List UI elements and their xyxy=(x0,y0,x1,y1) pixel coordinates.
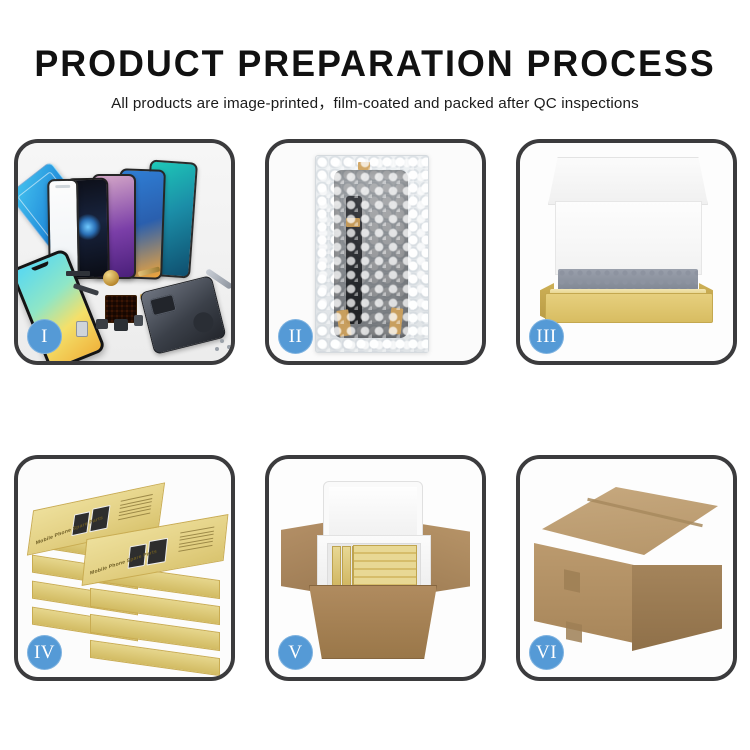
step-badge-2: II xyxy=(278,319,313,354)
bubble-wrap-bag xyxy=(315,155,429,353)
carton-front-face xyxy=(534,543,634,643)
process-step-1[interactable]: I xyxy=(14,139,235,365)
screw-icon xyxy=(215,347,219,351)
part-module-a xyxy=(96,319,108,329)
styrofoam-lid xyxy=(323,481,423,541)
box-spec-lines xyxy=(178,527,214,554)
phone-chassis-disassembled xyxy=(139,275,226,355)
part-bar xyxy=(66,271,90,276)
step-badge-4: IV xyxy=(27,635,62,670)
header: PRODUCT PREPARATION PROCESS All products… xyxy=(0,0,750,113)
process-step-5[interactable]: V xyxy=(265,455,486,681)
process-step-3[interactable]: III xyxy=(516,139,737,365)
screw-icon xyxy=(227,345,231,349)
tape-mid xyxy=(346,218,360,227)
packed-yellow-boxes xyxy=(353,545,417,589)
box-front-panel xyxy=(545,293,713,323)
carton-tape-upper xyxy=(564,569,580,592)
box-spec-lines xyxy=(118,494,153,522)
step-badge-6: VI xyxy=(529,635,564,670)
box-inner-wall xyxy=(555,201,702,275)
page-subtitle: All products are image-printed，film-coat… xyxy=(0,84,750,113)
part-speaker-coin xyxy=(103,270,119,286)
page-title: PRODUCT PREPARATION PROCESS xyxy=(11,0,739,84)
step-badge-1: I xyxy=(27,319,62,354)
screw-icon xyxy=(220,339,224,343)
part-sim-tray xyxy=(76,321,88,337)
product-preparation-infographic: PRODUCT PREPARATION PROCESS All products… xyxy=(0,0,750,750)
carton-tape-lower xyxy=(566,621,582,642)
retail-box-stack: Mobile Phone Spare Parts Mobile Phone Sp… xyxy=(24,475,229,661)
wrapped-part-strip xyxy=(346,196,362,324)
box-lid-open xyxy=(548,157,708,205)
step-badge-5: V xyxy=(278,635,313,670)
tape-top xyxy=(358,162,370,170)
carton-side-face xyxy=(632,565,722,651)
step-badge-3: III xyxy=(529,319,564,354)
process-step-grid: I II xyxy=(14,139,736,681)
process-step-4[interactable]: Mobile Phone Spare Parts Mobile Phone Sp… xyxy=(14,455,235,681)
part-module-b xyxy=(114,319,128,331)
carton-body xyxy=(309,585,437,659)
process-step-2[interactable]: II xyxy=(265,139,486,365)
part-module-c xyxy=(134,315,143,326)
process-step-6[interactable]: VI xyxy=(516,455,737,681)
